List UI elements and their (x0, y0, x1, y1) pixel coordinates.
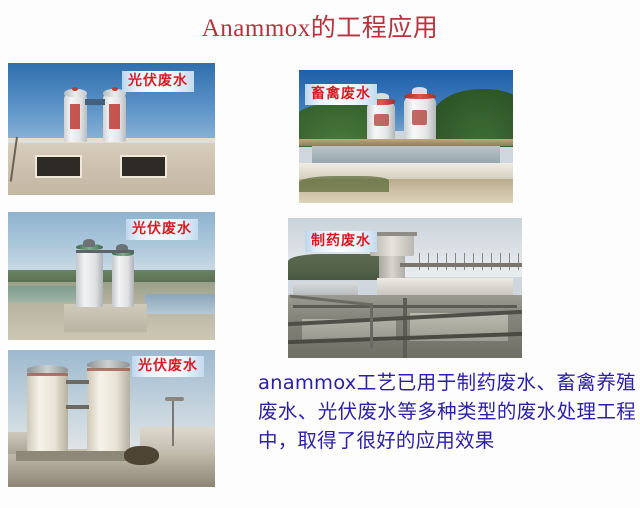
building-window (120, 155, 167, 177)
caption-livestock-farm: 畜禽废水 (305, 84, 377, 105)
razor-wire-fence (419, 253, 522, 270)
pipe-rack (299, 139, 513, 146)
pond (8, 286, 78, 301)
reactor-tank (112, 253, 135, 307)
reactor-tank (27, 372, 68, 457)
body-paragraph: anammox工艺已用于制药废水、畜禽养殖废水、光伏废水等多种类型的废水处理工程… (258, 368, 636, 455)
tank-marking (109, 104, 119, 129)
grass-patch (299, 176, 389, 192)
page-title: Anammox的工程应用 (0, 8, 640, 44)
walkway (290, 295, 373, 349)
caption-photovoltaic-field: 光伏废水 (126, 219, 198, 240)
pond (145, 294, 215, 314)
caption-photovoltaic-rooftop: 光伏废水 (122, 71, 194, 92)
tank-ring (87, 368, 130, 371)
street-lamp-head (165, 397, 184, 401)
equipment-shed (377, 278, 513, 295)
connecting-duct (85, 99, 106, 106)
caption-pharmaceutical-plant: 制药废水 (305, 231, 377, 252)
reactor-tank (76, 248, 103, 307)
tank-vent (112, 87, 118, 91)
tank-dome (412, 87, 427, 94)
building-window (35, 155, 82, 177)
reactor-tank (87, 366, 130, 456)
tank-dome (83, 239, 95, 247)
caption-photovoltaic-tanks: 光伏废水 (132, 356, 204, 377)
tank-marking (412, 110, 427, 125)
street-lamp-pole (172, 399, 174, 446)
tank-ring (27, 373, 68, 376)
tank-marking (70, 104, 80, 129)
tank-foundation (16, 451, 136, 461)
connecting-pipe (66, 380, 89, 384)
connecting-pipe (66, 405, 89, 409)
pipe-gantry (400, 263, 522, 267)
catwalk (76, 250, 134, 253)
tank-vent (72, 87, 78, 91)
shrub (124, 446, 159, 465)
concrete-pad (64, 304, 147, 332)
tank-marking (374, 114, 389, 126)
